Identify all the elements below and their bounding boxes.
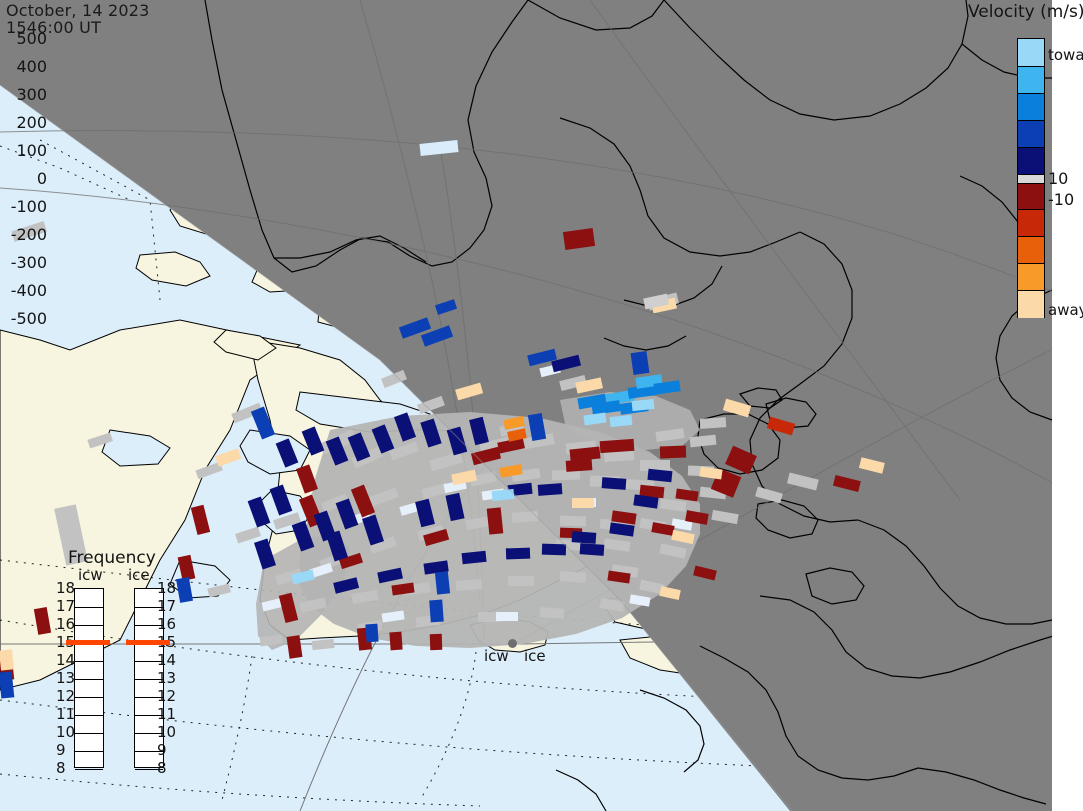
colorbar-segment	[1018, 209, 1044, 237]
frequency-scale-label: 17	[56, 597, 75, 615]
colorbar	[1017, 38, 1045, 318]
frequency-scale-label: 11	[56, 705, 75, 723]
frequency-scale-label: 18	[56, 579, 75, 597]
colorbar-segment	[1018, 147, 1044, 175]
frequency-scale-label: 13	[157, 669, 176, 687]
frequency-legend-title: Frequency	[68, 548, 156, 568]
colorbar-title: Velocity (m/s)	[968, 2, 1083, 22]
frequency-scale-label: 9	[56, 741, 66, 759]
colorbar-tick-label: 0	[37, 169, 47, 188]
colorbar-tick-label: -500	[11, 309, 47, 328]
frequency-scale-label: 8	[157, 759, 167, 777]
frequency-gridline	[75, 769, 103, 770]
radar-map-figure: October, 14 20231546:00 UT icw ice Frequ…	[0, 0, 1083, 811]
colorbar-segment	[1018, 236, 1044, 264]
frequency-scale-label: 16	[56, 615, 75, 633]
frequency-gridline	[75, 715, 103, 716]
frequency-scale-label: 17	[157, 597, 176, 615]
frequency-gridline	[75, 661, 103, 662]
frequency-scale-label: 12	[157, 687, 176, 705]
colorbar-away-label: away	[1048, 301, 1083, 319]
colorbar-segment	[1018, 66, 1044, 94]
colorbar-mid-lower-label: -10	[1048, 190, 1074, 209]
frequency-scale-label: 8	[56, 759, 66, 777]
colorbar-segment	[1018, 39, 1044, 66]
frequency-bar-icw	[74, 588, 104, 768]
frequency-value-marker	[66, 640, 110, 645]
frequency-scale-label: 13	[56, 669, 75, 687]
frequency-scale-label: 10	[157, 723, 176, 741]
colorbar-tick-label: 500	[16, 29, 47, 48]
frequency-scale-label: 14	[157, 651, 176, 669]
colorbar-segment	[1018, 263, 1044, 291]
frequency-value-marker	[126, 640, 170, 645]
colorbar-tick-label: -100	[11, 197, 47, 216]
frequency-scale-label: 9	[157, 741, 167, 759]
colorbar-tick-label: -200	[11, 225, 47, 244]
colorbar-tick-label: 200	[16, 113, 47, 132]
colorbar-tick-label: -400	[11, 281, 47, 300]
frequency-gridline	[75, 733, 103, 734]
frequency-gridline	[75, 751, 103, 752]
colorbar-toward-label: toward	[1048, 46, 1083, 64]
colorbar-segment	[1018, 93, 1044, 121]
frequency-gridline	[75, 679, 103, 680]
colorbar-tick-label: 300	[16, 85, 47, 104]
colorbar-tick-label: 100	[16, 141, 47, 160]
frequency-scale-label: 12	[56, 687, 75, 705]
colorbar-tick-label: -300	[11, 253, 47, 272]
frequency-gridline	[75, 625, 103, 626]
frequency-scale-label: 11	[157, 705, 176, 723]
frequency-column-label-ice: ice	[128, 566, 150, 584]
frequency-gridline	[75, 607, 103, 608]
radar-site-label-icw: icw	[484, 647, 509, 665]
colorbar-tick-label: 400	[16, 57, 47, 76]
radar-site-marker	[508, 639, 517, 648]
frequency-scale-label: 18	[157, 579, 176, 597]
colorbar-mid-upper-label: 10	[1048, 169, 1068, 188]
frequency-scale-label: 16	[157, 615, 176, 633]
radar-site-label-ice: ice	[524, 647, 546, 665]
frequency-gridline	[75, 697, 103, 698]
frequency-scale-label: 10	[56, 723, 75, 741]
frequency-scale-label: 14	[56, 651, 75, 669]
colorbar-panel	[1052, 0, 1083, 811]
colorbar-segment	[1018, 120, 1044, 148]
frequency-column-label-icw: icw	[78, 566, 103, 584]
colorbar-segment	[1018, 183, 1044, 211]
colorbar-segment	[1018, 290, 1044, 318]
